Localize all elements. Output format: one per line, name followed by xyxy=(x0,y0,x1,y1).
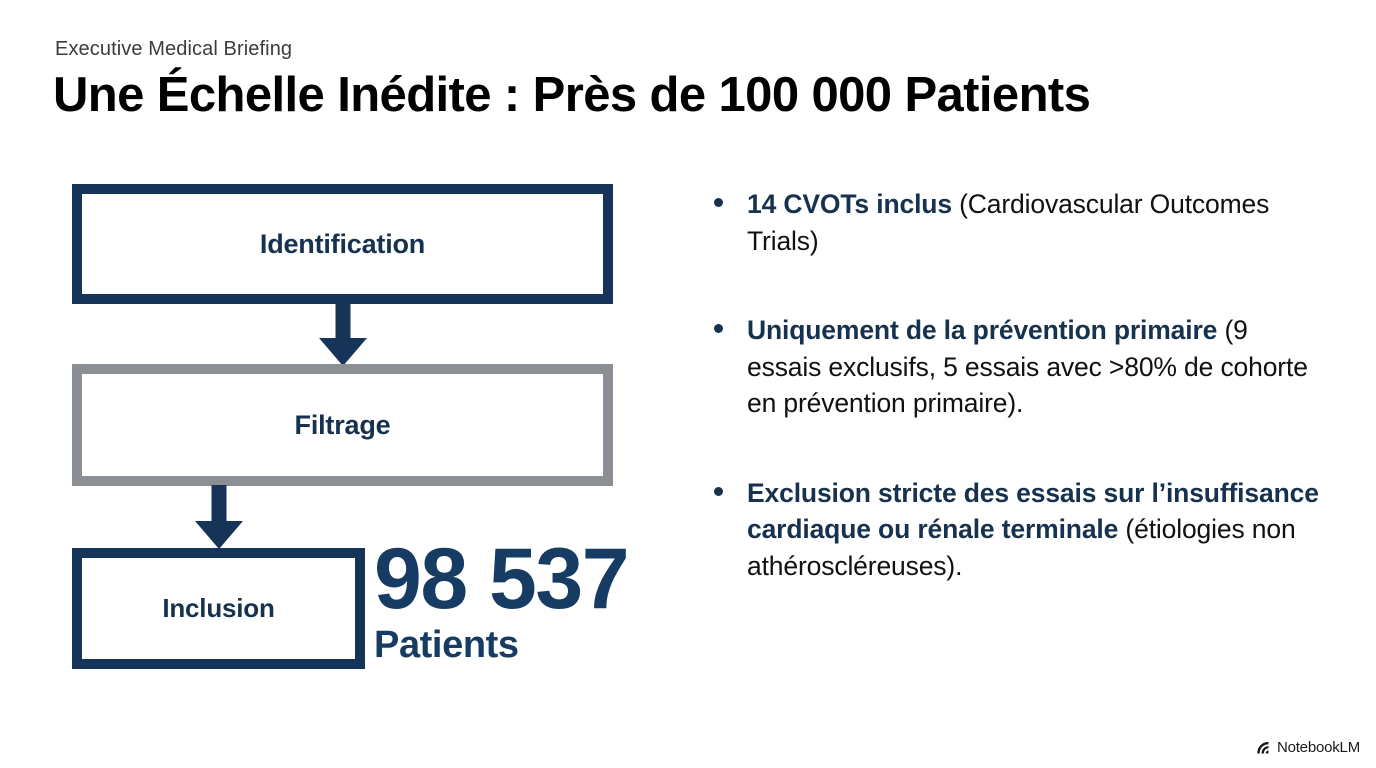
flow-arrow-down-1 xyxy=(311,303,375,366)
list-item: Uniquement de la prévention primaire (9 … xyxy=(706,312,1326,422)
bullet-lead: 14 CVOTs inclus xyxy=(747,189,952,219)
bullet-dot-icon xyxy=(714,324,723,333)
flow-step-label: Filtrage xyxy=(295,410,391,441)
bullet-dot-icon xyxy=(714,487,723,496)
bullet-text: Uniquement de la prévention primaire (9 … xyxy=(747,312,1326,422)
bullet-lead: Uniquement de la prévention primaire xyxy=(747,315,1217,345)
notebooklm-spiral-icon xyxy=(1255,739,1272,756)
flow-step-label: Inclusion xyxy=(162,593,274,624)
notebooklm-watermark: NotebookLM xyxy=(1255,739,1360,756)
flow-step-filtrage: Filtrage xyxy=(72,364,613,486)
flow-arrow-down-2 xyxy=(187,485,251,549)
patient-count-stat: 98 537 Patients xyxy=(374,540,628,666)
bullet-text: 14 CVOTs inclus (Cardiovascular Outcomes… xyxy=(747,186,1326,259)
list-item: Exclusion stricte des essais sur l’insuf… xyxy=(706,475,1326,585)
arrow-head xyxy=(319,338,367,366)
flow-diagram: Identification Filtrage Inclusion 98 537… xyxy=(0,0,680,768)
arrow-head xyxy=(195,521,243,549)
slide-root: Executive Medical Briefing Une Échelle I… xyxy=(0,0,1376,768)
stat-caption: Patients xyxy=(374,626,628,666)
stat-number: 98 537 xyxy=(374,540,628,620)
bullet-list: 14 CVOTs inclus (Cardiovascular Outcomes… xyxy=(706,186,1326,585)
arrow-shaft xyxy=(336,303,351,339)
flow-step-label: Identification xyxy=(260,229,425,260)
bullet-dot-icon xyxy=(714,198,723,207)
bullet-text: Exclusion stricte des essais sur l’insuf… xyxy=(747,475,1326,585)
flow-step-inclusion: Inclusion xyxy=(72,548,365,669)
arrow-shaft xyxy=(212,485,227,522)
notebooklm-wordmark: NotebookLM xyxy=(1277,739,1360,756)
flow-step-identification: Identification xyxy=(72,184,613,304)
list-item: 14 CVOTs inclus (Cardiovascular Outcomes… xyxy=(706,186,1326,259)
